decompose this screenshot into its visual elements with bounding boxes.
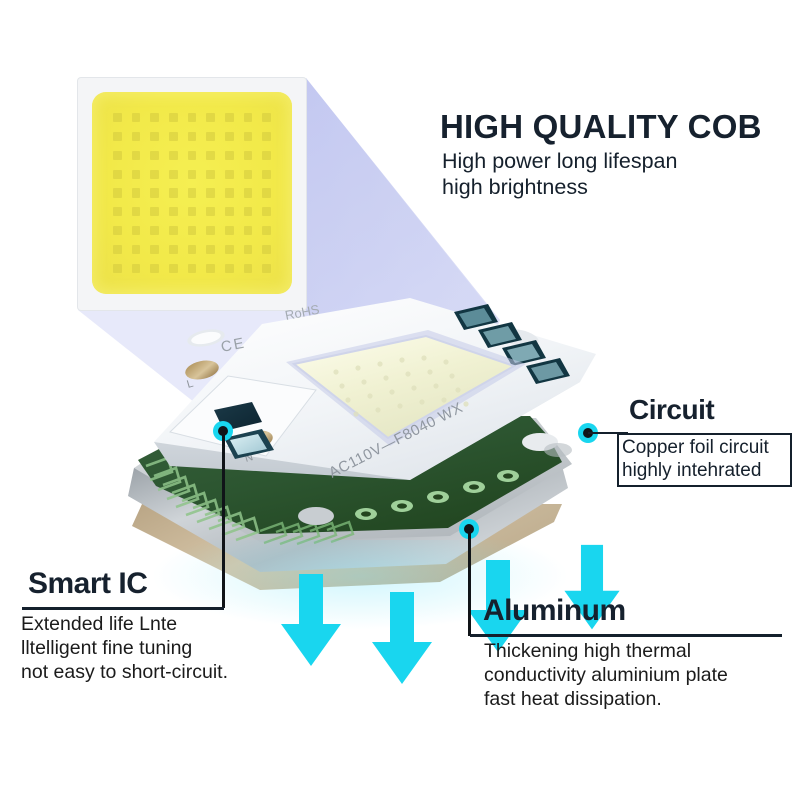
callout-text-aluminum: Thickening high thermal conductivity alu… [484, 640, 728, 711]
callout-leader-aluminum [468, 528, 471, 636]
svg-text:L: L [186, 378, 195, 391]
led-module: L N [110, 290, 630, 610]
callout-rule-smart-ic [22, 607, 224, 610]
infographic-canvas: L N [0, 0, 800, 800]
callout-heading-smart-ic: Smart IC [28, 567, 147, 601]
callout-heading-circuit: Circuit [629, 394, 714, 426]
page-subtitle: High power long lifespan high brightness [442, 148, 677, 200]
phosphor-surface [92, 92, 292, 294]
led-die-grid [108, 108, 276, 278]
heat-arrow-down [370, 592, 434, 686]
cob-chip-zoomed [78, 78, 306, 310]
heat-arrow-down [279, 574, 343, 668]
callout-text-smart-ic: Extended life Lnte lltelligent fine tuni… [21, 613, 228, 684]
callout-text-circuit: Copper foil circuit highly intehrated [622, 436, 769, 482]
page-title: HIGH QUALITY COB [440, 108, 762, 146]
callout-rule-aluminum [470, 634, 782, 637]
callout-heading-aluminum: Aluminum [483, 594, 626, 628]
callout-leader-smart-ic [222, 430, 225, 608]
